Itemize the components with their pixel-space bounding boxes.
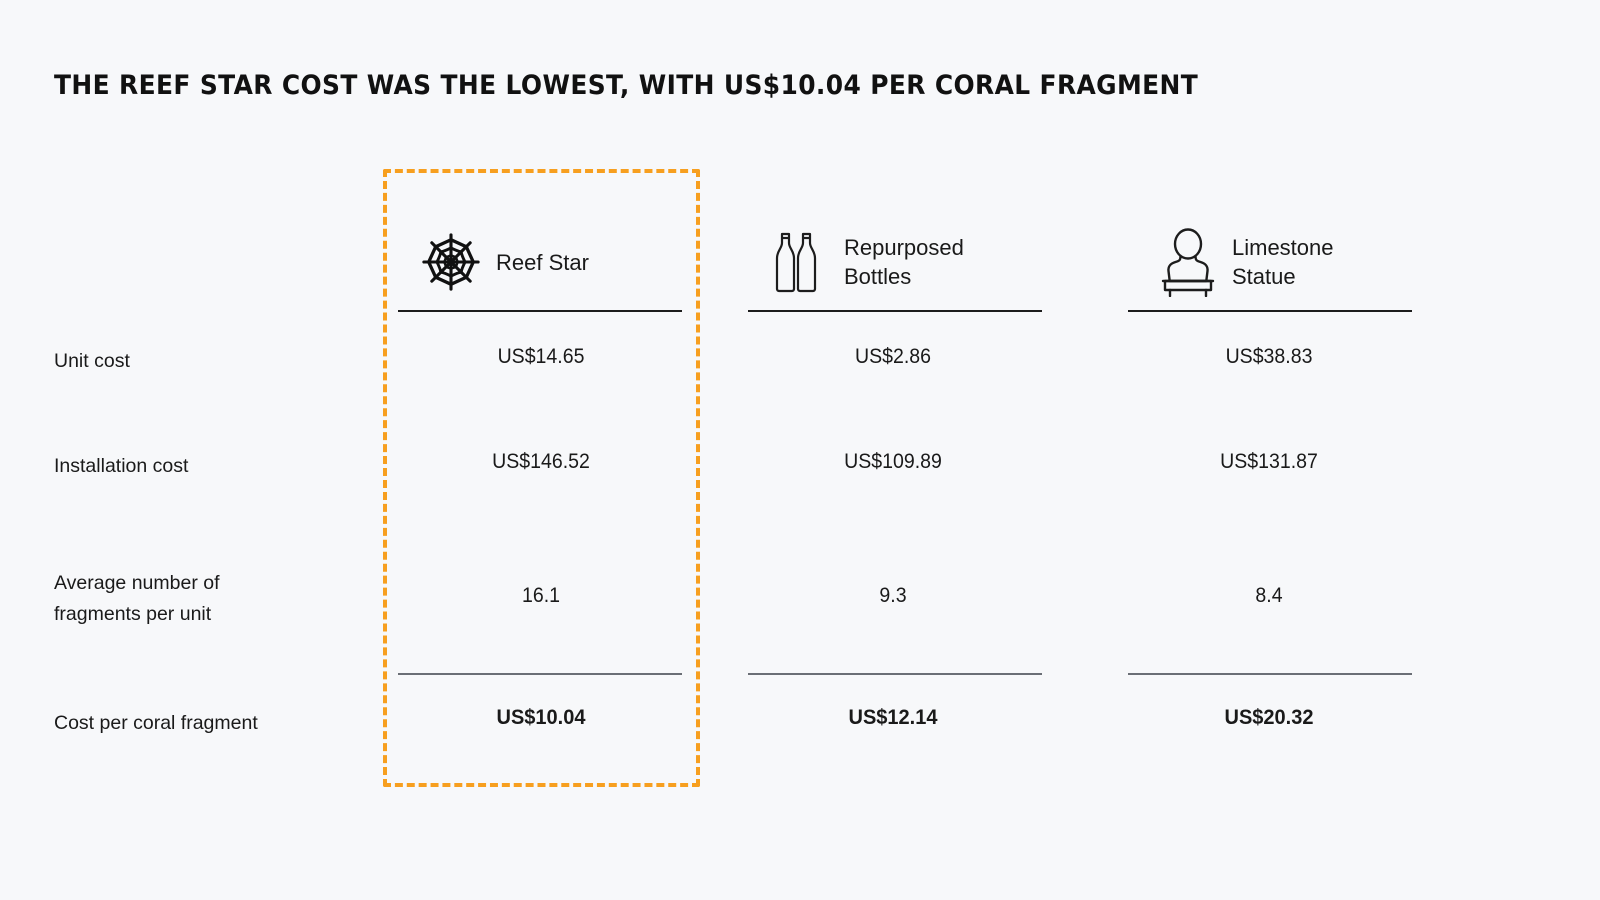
infographic-table-page: THE REEF STAR COST WAS THE LOWEST, WITH … (0, 0, 1600, 900)
table-cell: US$14.65 (406, 345, 676, 369)
table-cell: 9.3 (758, 584, 1028, 608)
table-cell: 8.4 (1134, 584, 1404, 608)
total-divider-repurposed-bottles (748, 673, 1042, 675)
table-cell: 16.1 (406, 584, 676, 608)
table-cell: US$109.89 (758, 450, 1028, 474)
comparison-table: Reef Star Repurposed Bottles (0, 0, 1600, 900)
header-divider-limestone-statue (1128, 310, 1412, 312)
table-cell: US$38.83 (1134, 345, 1404, 369)
row-label-avg-fragments: Average number of fragments per unit (54, 568, 384, 630)
total-divider-reef-star (398, 673, 682, 675)
column-header-label: Limestone Statue (1232, 233, 1334, 291)
table-cell-total: US$12.14 (758, 705, 1028, 730)
statue-icon (1158, 227, 1218, 297)
table-cell: US$146.52 (406, 450, 676, 474)
header-divider-reef-star (398, 310, 682, 312)
column-header-label: Reef Star (496, 248, 589, 277)
table-cell-total: US$10.04 (406, 705, 676, 730)
row-label-unit-cost: Unit cost (54, 346, 384, 377)
column-header-limestone-statue[interactable]: Limestone Statue (1158, 222, 1334, 302)
total-divider-limestone-statue (1128, 673, 1412, 675)
header-divider-repurposed-bottles (748, 310, 1042, 312)
row-label-installation-cost: Installation cost (54, 451, 384, 482)
column-header-reef-star[interactable]: Reef Star (420, 222, 589, 302)
bottles-icon (768, 229, 830, 295)
reef-star-icon (420, 231, 482, 293)
column-header-repurposed-bottles[interactable]: Repurposed Bottles (768, 222, 964, 302)
column-header-label: Repurposed Bottles (844, 233, 964, 291)
row-label-cost-per-fragment: Cost per coral fragment (54, 708, 384, 739)
table-cell: US$2.86 (758, 345, 1028, 369)
table-cell-total: US$20.32 (1134, 705, 1404, 730)
table-cell: US$131.87 (1134, 450, 1404, 474)
